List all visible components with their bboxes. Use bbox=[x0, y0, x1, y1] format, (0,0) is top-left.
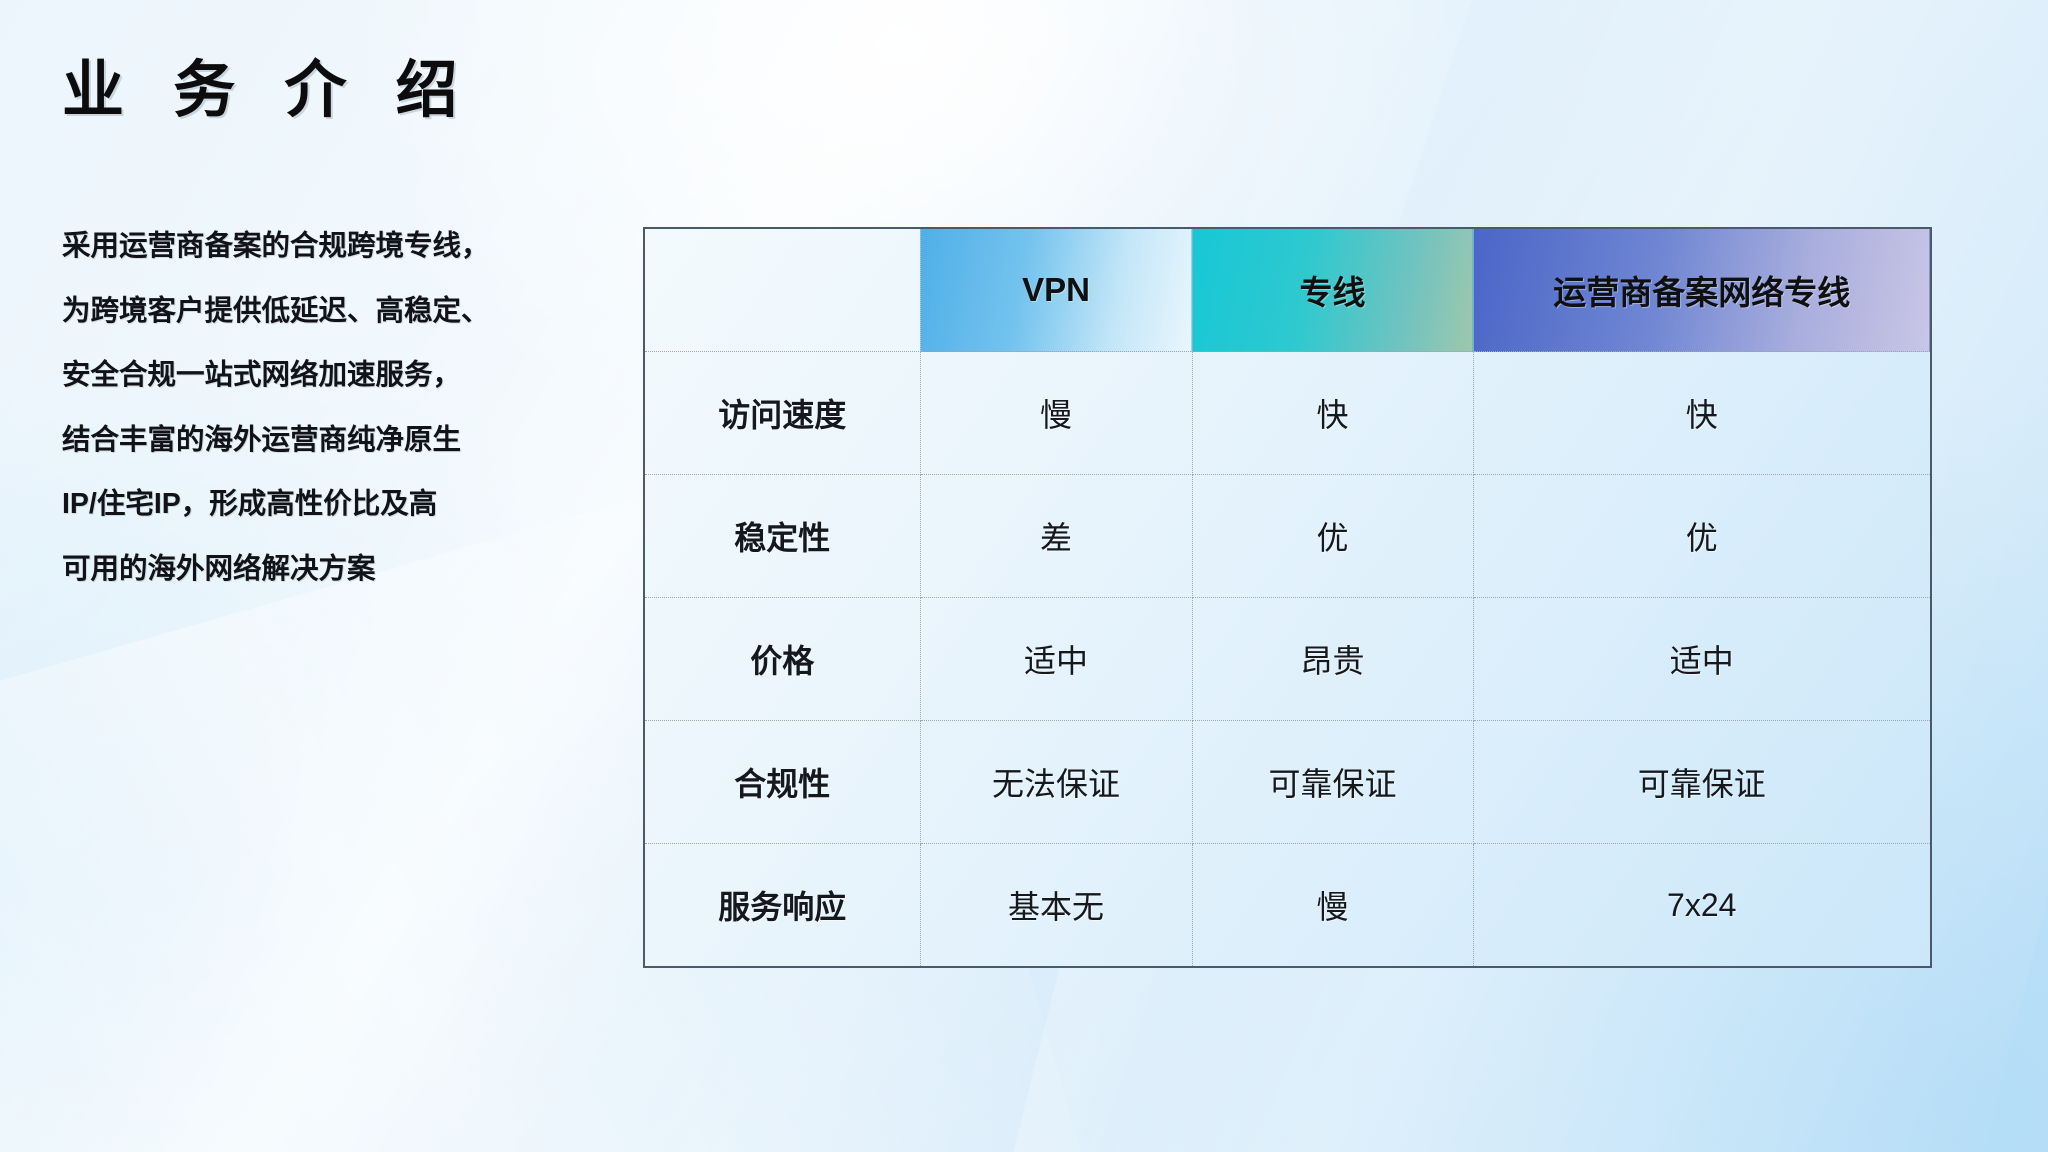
table-cell: 昂贵 bbox=[1192, 598, 1473, 721]
table-header-dedicated-line-label: 专线 bbox=[1193, 266, 1473, 314]
table-header-vpn: VPN bbox=[920, 228, 1192, 352]
table-row: 访问速度 慢 快 快 bbox=[644, 352, 1931, 475]
intro-line: 可用的海外网络解决方案 bbox=[62, 555, 622, 584]
table-header-dedicated-line: 专线 bbox=[1192, 228, 1473, 352]
table-header-telecom-line: 运营商备案网络专线 bbox=[1473, 228, 1931, 352]
table-row-label: 价格 bbox=[644, 598, 920, 721]
intro-line: 结合丰富的海外运营商纯净原生 bbox=[62, 426, 622, 455]
table-cell: 优 bbox=[1192, 475, 1473, 598]
table-row: 服务响应 基本无 慢 7x24 bbox=[644, 844, 1931, 968]
table-cell: 快 bbox=[1192, 352, 1473, 475]
comparison-table: VPN 专线 运营商备案网络专线 访问速度 慢 快 快 稳定性 差 优 优 价格… bbox=[643, 227, 1932, 968]
table-cell: 慢 bbox=[1192, 844, 1473, 968]
table-cell: 差 bbox=[920, 475, 1192, 598]
table-row-label: 服务响应 bbox=[644, 844, 920, 968]
table-cell: 可靠保证 bbox=[1192, 721, 1473, 844]
intro-line: IP/住宅IP，形成高性价比及高 bbox=[62, 490, 622, 519]
table-header-vpn-label: VPN bbox=[921, 271, 1192, 309]
table-cell: 无法保证 bbox=[920, 721, 1192, 844]
intro-line: 采用运营商备案的合规跨境专线， bbox=[62, 232, 622, 261]
table-header-telecom-line-label: 运营商备案网络专线 bbox=[1474, 266, 1931, 314]
page-title: 业 务 介 绍 bbox=[62, 58, 474, 123]
table-cell: 慢 bbox=[920, 352, 1192, 475]
table-cell: 7x24 bbox=[1473, 844, 1931, 968]
table-header-row: VPN 专线 运营商备案网络专线 bbox=[644, 228, 1931, 352]
intro-paragraph: 采用运营商备案的合规跨境专线， 为跨境客户提供低延迟、高稳定、 安全合规一站式网… bbox=[62, 232, 622, 619]
table-row-label: 合规性 bbox=[644, 721, 920, 844]
table-row-label: 访问速度 bbox=[644, 352, 920, 475]
table-row: 价格 适中 昂贵 适中 bbox=[644, 598, 1931, 721]
table-row-label: 稳定性 bbox=[644, 475, 920, 598]
table-cell: 基本无 bbox=[920, 844, 1192, 968]
table-cell: 优 bbox=[1473, 475, 1931, 598]
intro-line: 为跨境客户提供低延迟、高稳定、 bbox=[62, 297, 622, 326]
table-header-corner bbox=[644, 228, 920, 352]
intro-line: 安全合规一站式网络加速服务， bbox=[62, 361, 622, 390]
table-cell: 适中 bbox=[1473, 598, 1931, 721]
table-row: 稳定性 差 优 优 bbox=[644, 475, 1931, 598]
slide-canvas: 业 务 介 绍 采用运营商备案的合规跨境专线， 为跨境客户提供低延迟、高稳定、 … bbox=[0, 0, 2048, 1152]
table-cell: 适中 bbox=[920, 598, 1192, 721]
table-cell: 可靠保证 bbox=[1473, 721, 1931, 844]
table-row: 合规性 无法保证 可靠保证 可靠保证 bbox=[644, 721, 1931, 844]
table-cell: 快 bbox=[1473, 352, 1931, 475]
